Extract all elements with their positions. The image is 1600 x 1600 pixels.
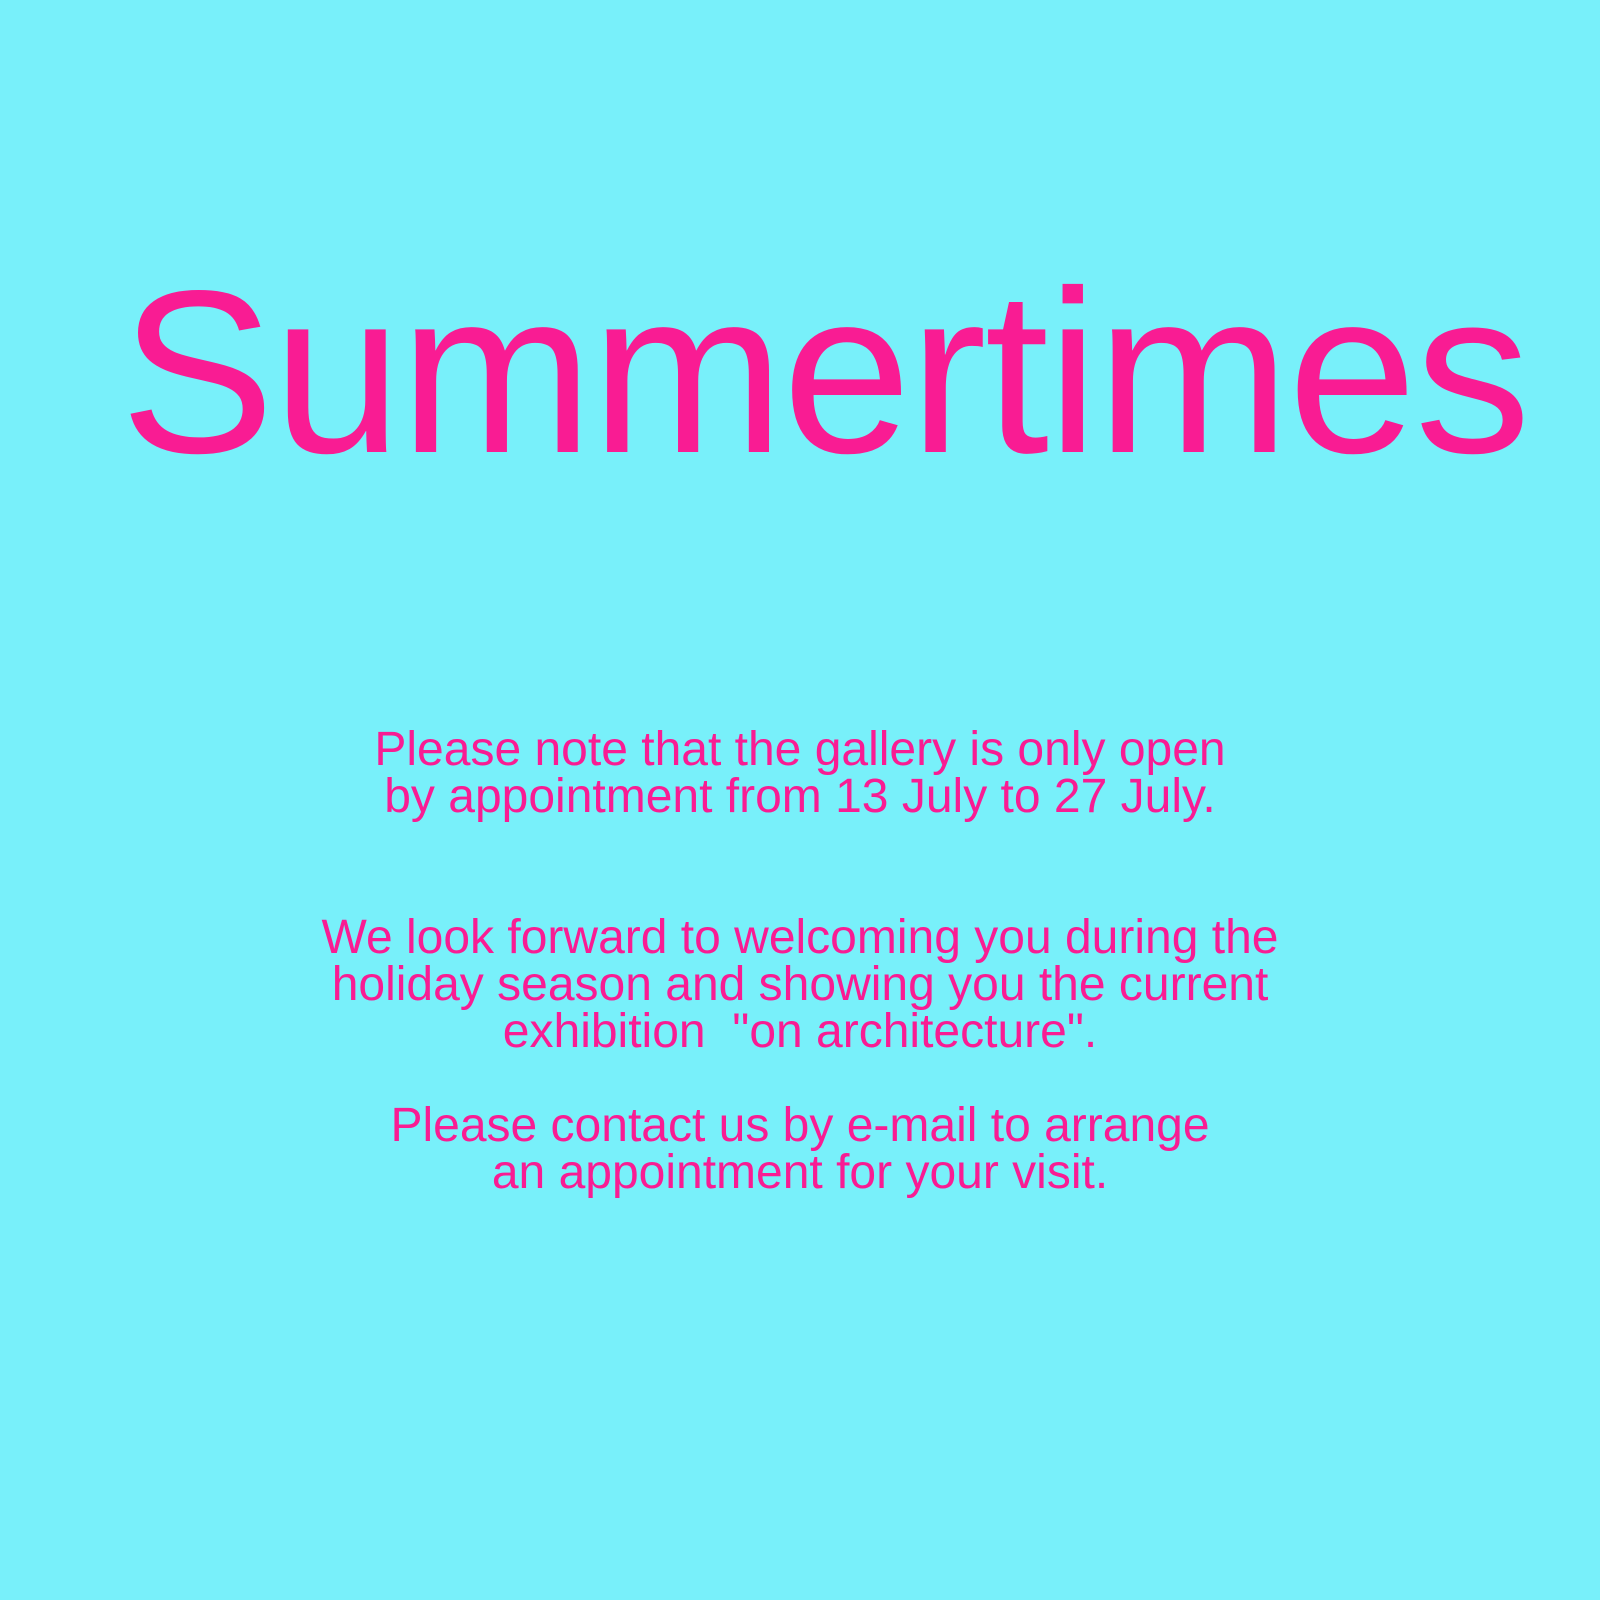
paragraph-spacer (0, 820, 1600, 867)
paragraph-spacer (0, 867, 1600, 914)
paragraph-spacer (0, 1055, 1600, 1102)
announcement-body: Please note that the gallery is only ope… (0, 726, 1600, 1196)
paragraph-opening-hours-notice: Please note that the gallery is only ope… (0, 726, 1600, 820)
paragraph-welcome-message: We look forward to welcoming you during … (0, 914, 1600, 1055)
gallery-announcement-page: Summertimes Please note that the gallery… (0, 0, 1600, 1600)
title-block: Summertimes (120, 258, 1520, 488)
paragraph-contact-instruction: Please contact us by e-mail to arrange a… (0, 1102, 1600, 1196)
page-title: Summertimes (120, 258, 1520, 488)
